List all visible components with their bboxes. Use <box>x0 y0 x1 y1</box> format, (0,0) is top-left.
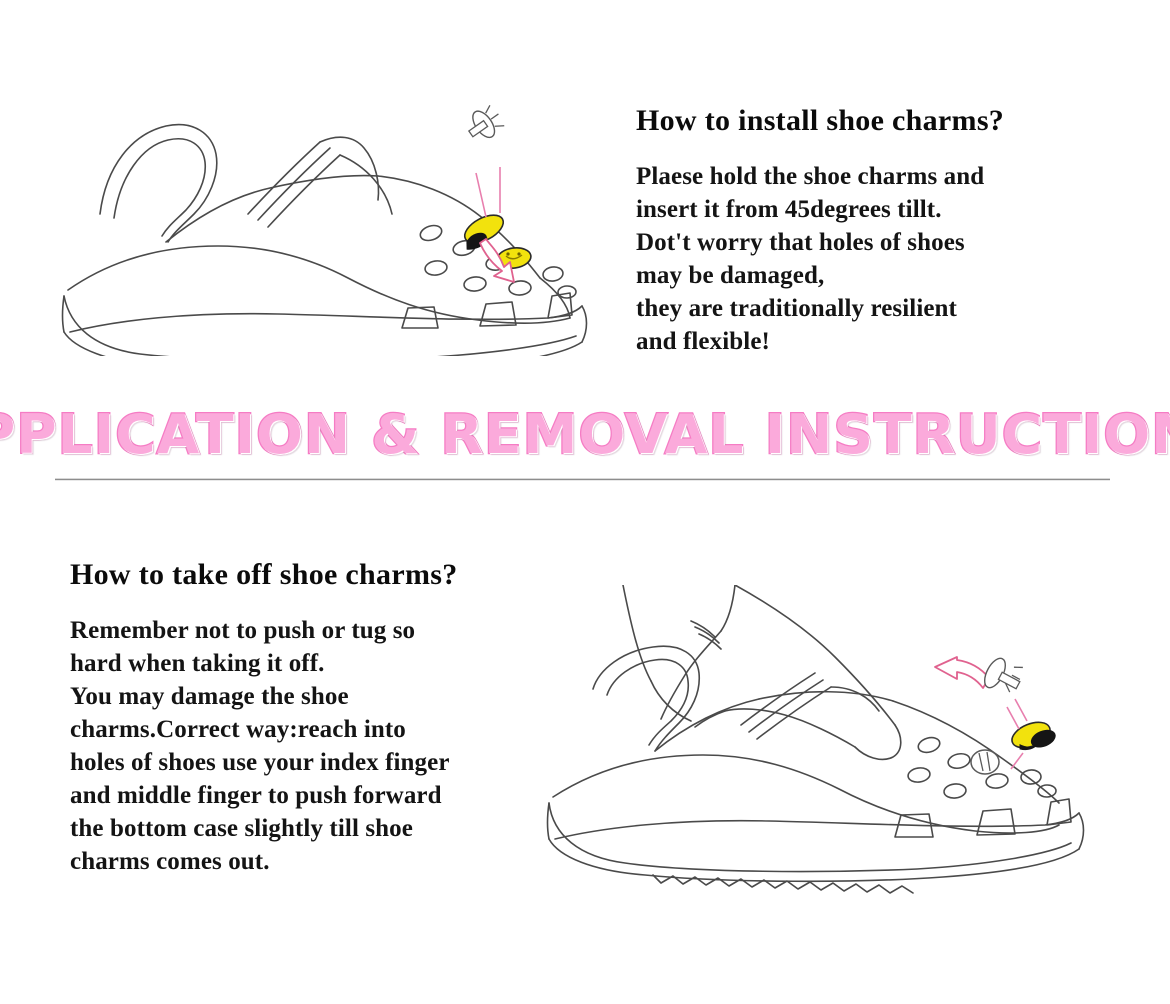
banner: APPLICATION & REMOVAL INSTRUCTIONS <box>0 404 1170 466</box>
install-line-2: insert it from 45degrees tillt. <box>636 193 1106 226</box>
horizontal-divider <box>55 478 1110 481</box>
removal-line-2: hard when taking it off. <box>70 647 570 680</box>
banner-title: APPLICATION & REMOVAL INSTRUCTIONS <box>0 406 1170 464</box>
removal-line-7: the bottom case slightly till shoe <box>70 812 570 845</box>
removal-line-8: charms comes out. <box>70 845 570 878</box>
charm-removal-diagram <box>935 653 1058 769</box>
install-line-6: and flexible! <box>636 325 1106 358</box>
install-shoe-illustration <box>48 96 628 356</box>
install-line-1: Plaese hold the shoe charms and <box>636 160 1106 193</box>
instruction-sheet: How to install shoe charms? Plaese hold … <box>0 0 1170 1004</box>
removal-text-block: How to take off shoe charms? Remember no… <box>70 558 570 878</box>
install-line-4: may be damaged, <box>636 259 1106 292</box>
removal-line-6: and middle finger to push forward <box>70 779 570 812</box>
install-heading: How to install shoe charms? <box>636 104 1106 138</box>
removal-arrow <box>935 657 989 688</box>
removal-line-5: holes of shoes use your index finger <box>70 746 570 779</box>
removal-line-4: charms.Correct way:reach into <box>70 713 570 746</box>
removal-heading: How to take off shoe charms? <box>70 558 570 592</box>
install-line-3: Dot't worry that holes of shoes <box>636 226 1106 259</box>
charm-plug-out <box>971 750 999 774</box>
removal-shoe-illustration <box>535 585 1120 915</box>
install-text-block: How to install shoe charms? Plaese hold … <box>636 104 1106 358</box>
removal-line-3: You may damage the shoe <box>70 680 570 713</box>
removal-line-1: Remember not to push or tug so <box>70 614 570 647</box>
install-line-5: they are traditionally resilient <box>636 292 1106 325</box>
